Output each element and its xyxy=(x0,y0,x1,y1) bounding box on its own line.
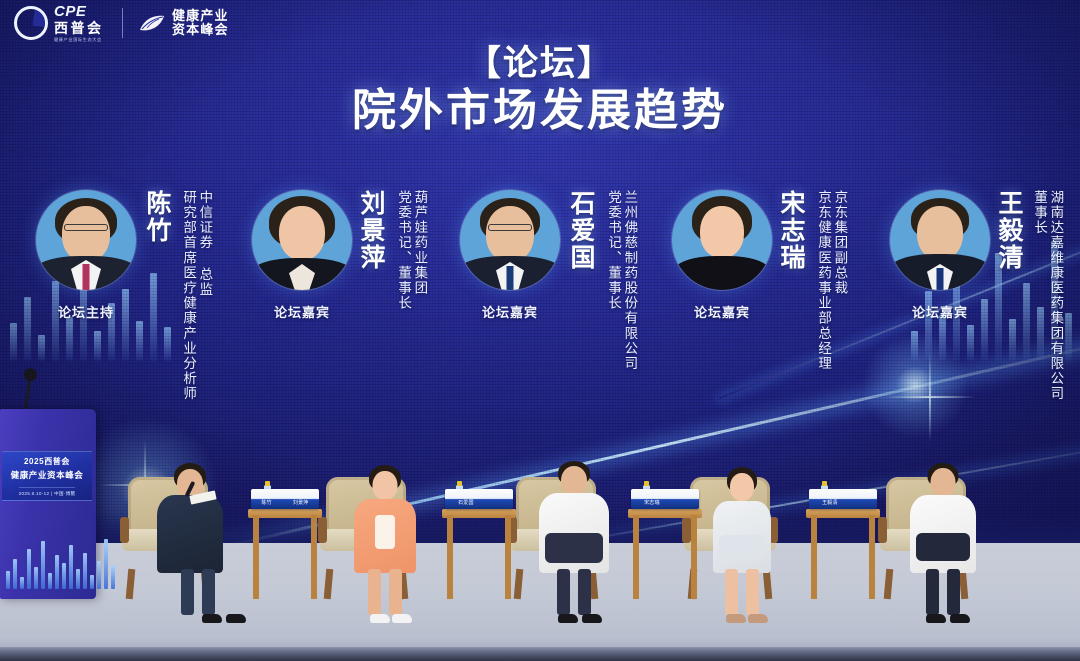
name-plate: 王毅清 xyxy=(809,489,877,509)
panelist-name: 刘景萍 xyxy=(358,190,383,271)
panelist-role: 论坛嘉宾 xyxy=(460,302,560,321)
side-table: 石爱国 xyxy=(442,509,516,573)
panelist-name: 石爱国 xyxy=(568,190,593,271)
panelist-affiliation-line2: 研究部首席医疗健康产业分析师 xyxy=(181,190,195,401)
panelist-seated-3 xyxy=(534,461,614,573)
panelist-role: 论坛嘉宾 xyxy=(252,302,352,321)
side-table: 宋志瑞 xyxy=(628,509,702,573)
logo-divider xyxy=(122,8,123,38)
cpe-logo-cn: 西普会 xyxy=(54,21,106,35)
stage-foreground: 2025西普会 健康产业资本峰会 2025.8.10-12 | 中国·博鳌 xyxy=(0,406,1080,661)
name-plate-left: 宋志瑞 xyxy=(644,499,660,509)
panelist-seated-5 xyxy=(904,463,982,573)
panelist-seated-2 xyxy=(348,465,422,573)
cpe-logo: CPE 西普会 健康产业国际生态大会 xyxy=(14,4,106,42)
panelist-portrait xyxy=(672,190,772,290)
hc-logo-line2: 资本峰会 xyxy=(172,23,229,38)
speaker-podium: 2025西普会 健康产业资本峰会 2025.8.10-12 | 中国·博鳌 xyxy=(0,409,96,599)
panelist-role: 论坛嘉宾 xyxy=(890,302,990,321)
podium-branding-plate: 2025西普会 健康产业资本峰会 2025.8.10-12 | 中国·博鳌 xyxy=(2,451,92,501)
panelist-affiliation-line1: 湖南达嘉维康医药集团有限公司 xyxy=(1048,190,1062,401)
conference-stage-photo: CPE 西普会 健康产业国际生态大会 健康产业 资本峰会 【论坛】 院外市场发展… xyxy=(0,0,1080,661)
event-logo-bar: CPE 西普会 健康产业国际生态大会 健康产业 资本峰会 xyxy=(14,4,229,42)
panelist-card-list: 论坛主持 陈竹 中信证券 总监 研究部首席医疗健康产业分析师 论坛嘉宾 刘景萍 … xyxy=(0,176,1080,436)
forum-title-line1: 【论坛】 xyxy=(0,44,1080,83)
cpe-logo-en: CPE xyxy=(54,4,106,19)
panelist-name: 王毅清 xyxy=(996,190,1021,271)
panelist-affiliation-line2: 京东健康医药事业部总经理 xyxy=(816,190,830,371)
panelist-role: 论坛主持 xyxy=(36,302,136,321)
panelist-affiliation-line2: 董事长 xyxy=(1032,190,1046,401)
name-plate-right: 刘景萍 xyxy=(293,499,309,509)
name-plate-left: 石爱国 xyxy=(458,499,474,509)
leaf-icon xyxy=(139,15,165,32)
panelist-affiliation-line1: 兰州佛慈制药股份有限公司 xyxy=(622,190,636,371)
panelist-portrait xyxy=(460,190,560,290)
panelist-card: 论坛主持 陈竹 中信证券 总监 研究部首席医疗健康产业分析师 xyxy=(36,176,236,436)
panelist-role: 论坛嘉宾 xyxy=(672,302,772,321)
panelist-seated-moderator xyxy=(150,463,230,573)
panelist-affiliation-line1: 中信证券 总监 xyxy=(197,190,211,401)
panelist-affiliation-line1: 葫芦娃药业集团 xyxy=(412,190,426,311)
podium-line1: 2025西普会 xyxy=(24,456,70,467)
panelist-affiliation-line2: 党委书记、董事长 xyxy=(606,190,620,371)
panelist-name: 宋志瑞 xyxy=(778,190,803,271)
podium-line3: 2025.8.10-12 | 中国·博鳌 xyxy=(19,487,76,497)
panelist-affiliation-line2: 党委书记、董事长 xyxy=(396,190,410,311)
bottom-edge-fade xyxy=(0,647,1080,661)
name-plate: 陈竹 刘景萍 xyxy=(251,489,319,509)
cpe-logo-sub: 健康产业国际生态大会 xyxy=(54,38,102,42)
cpe-circle-icon xyxy=(14,6,48,40)
panelist-portrait xyxy=(890,190,990,290)
panelist-portrait xyxy=(36,190,136,290)
panelist-seated-4 xyxy=(706,467,778,573)
panelist-affiliation-line1: 京东集团副总裁 xyxy=(832,190,846,371)
side-table: 王毅清 xyxy=(806,509,880,573)
panelist-card: 论坛嘉宾 刘景萍 葫芦娃药业集团 党委书记、董事长 xyxy=(252,176,442,436)
panelist-card: 论坛嘉宾 王毅清 湖南达嘉维康医药集团有限公司 董事长 xyxy=(890,176,1080,436)
health-capital-summit-logo: 健康产业 资本峰会 xyxy=(139,9,229,38)
panelist-portrait xyxy=(252,190,352,290)
podium-chart-decoration xyxy=(6,539,115,589)
panelist-card: 论坛嘉宾 宋志瑞 京东集团副总裁 京东健康医药事业部总经理 xyxy=(672,176,872,436)
name-plate: 宋志瑞 xyxy=(631,489,699,509)
podium-line2: 健康产业资本峰会 xyxy=(11,469,84,481)
forum-title: 【论坛】 院外市场发展趋势 xyxy=(0,44,1080,137)
name-plate-left: 王毅清 xyxy=(822,499,838,509)
hc-logo-line1: 健康产业 xyxy=(172,9,229,24)
panelist-card: 论坛嘉宾 石爱国 兰州佛慈制药股份有限公司 党委书记、董事长 xyxy=(460,176,660,436)
name-plate-left: 陈竹 xyxy=(261,499,271,509)
side-table: 陈竹 刘景萍 xyxy=(248,509,322,573)
forum-title-line2: 院外市场发展趋势 xyxy=(0,85,1080,137)
panelist-name: 陈竹 xyxy=(144,190,169,244)
name-plate: 石爱国 xyxy=(445,489,513,509)
